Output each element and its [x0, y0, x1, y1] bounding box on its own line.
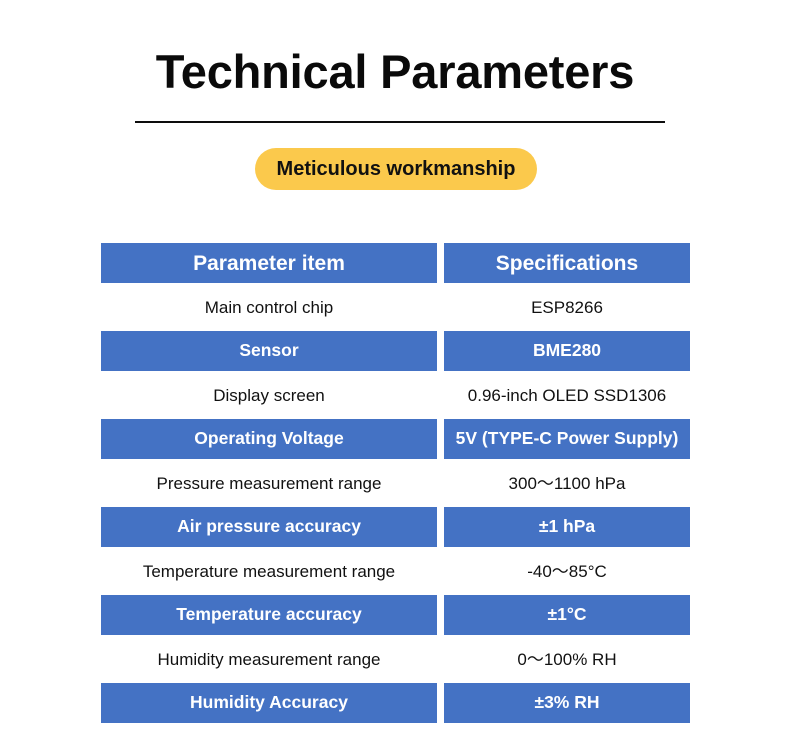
cell-parameter-item: Air pressure accuracy — [101, 507, 437, 547]
subtitle-badge: Meticulous workmanship — [255, 148, 537, 190]
table-row: Humidity measurement range0〜100% RH — [101, 639, 690, 679]
column-divider — [437, 331, 444, 371]
cell-specification: BME280 — [444, 331, 690, 371]
cell-parameter-item: Main control chip — [101, 287, 437, 327]
cell-specification: 0.96-inch OLED SSD1306 — [444, 375, 690, 415]
table-row: Operating Voltage5V (TYPE-C Power Supply… — [101, 419, 690, 459]
table-row: Temperature accuracy±1°C — [101, 595, 690, 635]
cell-specification: 5V (TYPE-C Power Supply) — [444, 419, 690, 459]
cell-specification: -40〜85°C — [444, 551, 690, 591]
table-row: Display screen0.96-inch OLED SSD1306 — [101, 375, 690, 415]
column-header-specifications: Specifications — [444, 243, 690, 283]
column-divider — [437, 419, 444, 459]
cell-parameter-item: Display screen — [101, 375, 437, 415]
column-divider — [437, 287, 444, 327]
column-divider — [437, 639, 444, 679]
cell-parameter-item: Operating Voltage — [101, 419, 437, 459]
cell-specification: ESP8266 — [444, 287, 690, 327]
column-divider — [437, 375, 444, 415]
cell-specification: ±1°C — [444, 595, 690, 635]
cell-specification: 300〜1100 hPa — [444, 463, 690, 503]
subtitle-badge-label: Meticulous workmanship — [277, 159, 516, 179]
table-row: Humidity Accuracy±3% RH — [101, 683, 690, 723]
table-row: SensorBME280 — [101, 331, 690, 371]
cell-parameter-item: Sensor — [101, 331, 437, 371]
column-divider — [437, 243, 444, 283]
cell-parameter-item: Temperature accuracy — [101, 595, 437, 635]
cell-parameter-item: Humidity measurement range — [101, 639, 437, 679]
table-row: Air pressure accuracy±1 hPa — [101, 507, 690, 547]
column-divider — [437, 595, 444, 635]
cell-parameter-item: Humidity Accuracy — [101, 683, 437, 723]
page-title: Technical Parameters — [0, 45, 790, 99]
column-header-parameter-item: Parameter item — [101, 243, 437, 283]
table-row: Pressure measurement range300〜1100 hPa — [101, 463, 690, 503]
cell-specification: 0〜100% RH — [444, 639, 690, 679]
cell-specification: ±1 hPa — [444, 507, 690, 547]
specifications-table: Parameter itemSpecificationsMain control… — [101, 243, 690, 723]
table-row: Temperature measurement range-40〜85°C — [101, 551, 690, 591]
column-divider — [437, 551, 444, 591]
cell-parameter-item: Temperature measurement range — [101, 551, 437, 591]
column-divider — [437, 463, 444, 503]
column-divider — [437, 507, 444, 547]
table-row: Main control chipESP8266 — [101, 287, 690, 327]
cell-specification: ±3% RH — [444, 683, 690, 723]
title-divider-rule — [135, 121, 665, 123]
column-divider — [437, 683, 444, 723]
cell-parameter-item: Pressure measurement range — [101, 463, 437, 503]
table-header-row: Parameter itemSpecifications — [101, 243, 690, 283]
